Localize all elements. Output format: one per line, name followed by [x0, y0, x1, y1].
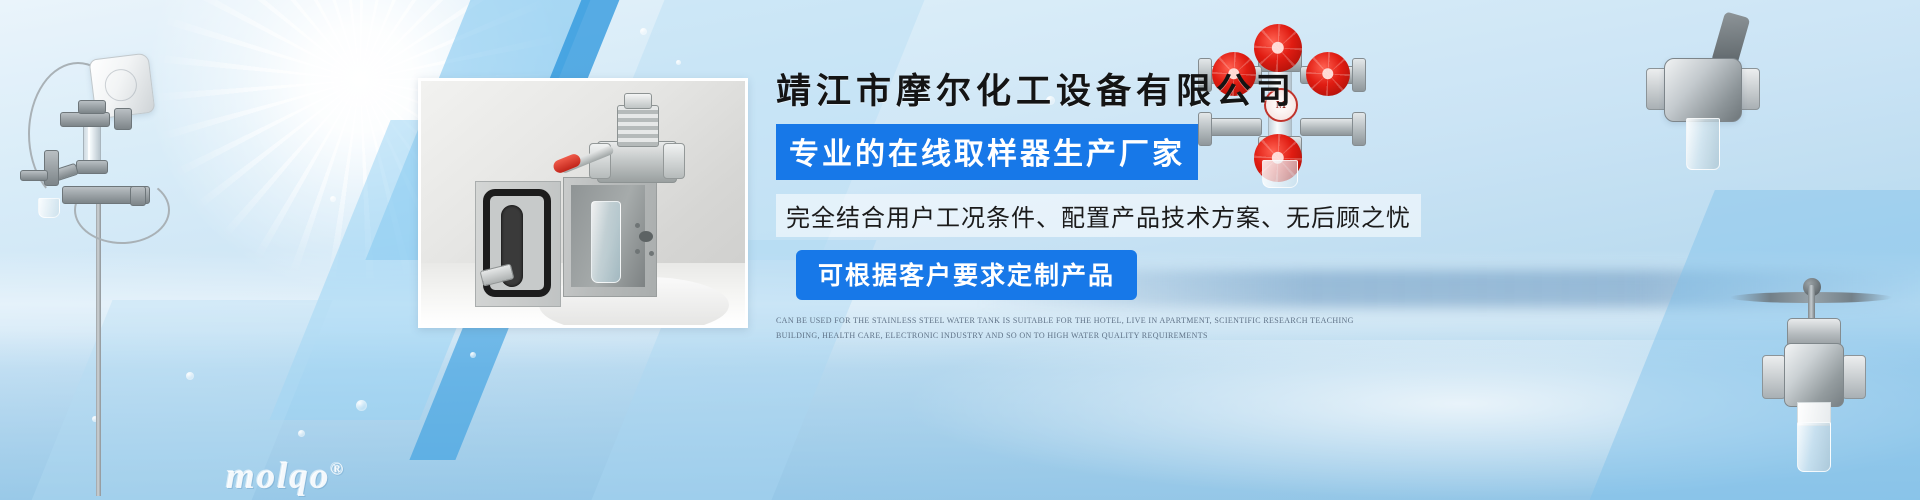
valve-flange — [60, 112, 110, 127]
custom-product-badge: 可根据客户要求定制产品 — [796, 250, 1137, 300]
outlet-flange — [114, 108, 132, 130]
product-photo — [418, 78, 748, 328]
valve-body — [1784, 343, 1844, 407]
banner-text-block: 靖江市摩尔化工设备有限公司 专业的在线取样器生产厂家 完全结合用户工况条件、配置… — [776, 72, 1416, 344]
mounting-pole — [96, 196, 101, 496]
brand-watermark: molqo® — [226, 455, 345, 498]
valve-flange — [1762, 355, 1786, 399]
sample-bottle — [591, 201, 621, 283]
bubble-icon — [470, 352, 476, 358]
bubble-icon — [676, 60, 681, 65]
promotional-banner: M 靖江市摩尔化工设备有限公司 专业的在线取样器生产厂家 完全结合用户工况条件、… — [0, 0, 1920, 500]
bubble-icon — [640, 28, 647, 35]
sample-bottle — [38, 198, 60, 218]
side-port — [20, 170, 48, 181]
bubble-icon — [356, 400, 367, 411]
valve-body — [1664, 58, 1742, 122]
cabinet-screw — [649, 251, 654, 256]
sample-bottle — [1686, 118, 1720, 170]
valve-flange — [78, 100, 106, 114]
valve-stack — [617, 105, 659, 147]
cabinet-screw — [635, 223, 640, 228]
english-description: Can be used for the stainless steel wate… — [776, 314, 1384, 344]
red-handwheel — [1254, 24, 1302, 72]
subheadline-text: 完全结合用户工况条件、配置产品技术方案、无后顾之忧 — [776, 194, 1421, 237]
registered-mark-icon: ® — [331, 460, 346, 479]
valve-flange — [663, 143, 685, 179]
headline-badge: 专业的在线取样器生产厂家 — [776, 124, 1198, 180]
decorative-ribbon — [1545, 190, 1920, 500]
cabinet-screw — [635, 249, 640, 254]
valve-cap — [624, 93, 652, 109]
valve-flange — [76, 160, 108, 174]
bubble-icon — [330, 196, 336, 202]
bubble-icon — [186, 372, 194, 380]
handwheel-spokes — [1254, 24, 1302, 72]
outlet-flange — [130, 186, 146, 206]
sample-bottle — [1797, 422, 1831, 472]
cabinet-port — [639, 231, 653, 242]
valve-flange — [1842, 355, 1866, 399]
company-name: 靖江市摩尔化工设备有限公司 — [776, 72, 1416, 112]
watermark-text: molqo — [226, 456, 331, 497]
bubble-icon — [298, 430, 305, 437]
